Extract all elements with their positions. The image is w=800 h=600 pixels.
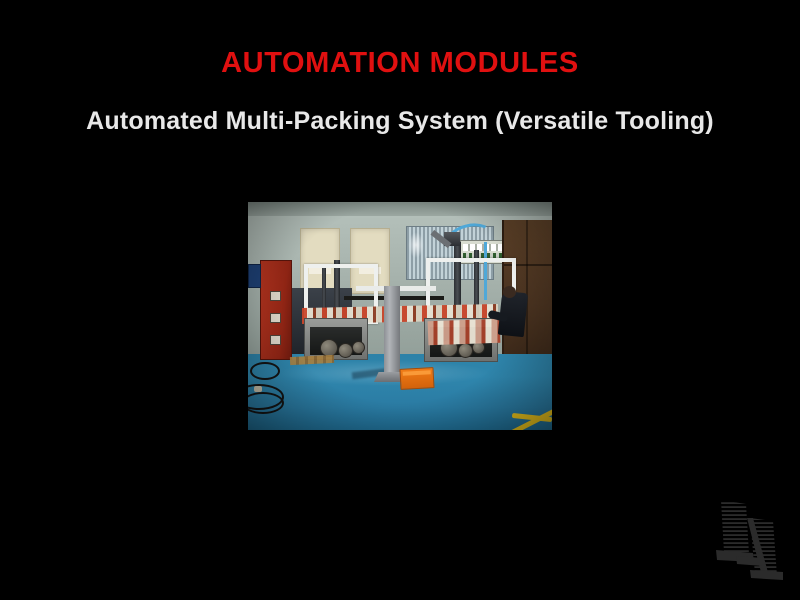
machine-gear-3 xyxy=(352,341,365,354)
floor-cable-connector xyxy=(254,386,262,392)
logo-stroke-left xyxy=(716,500,754,562)
louver-light-glow xyxy=(408,232,424,258)
red-control-cabinet xyxy=(260,260,292,360)
technician-head xyxy=(503,286,516,298)
machine-photo-image xyxy=(248,202,552,430)
foreground-pillar xyxy=(384,286,400,378)
cabinet-knob-2 xyxy=(270,313,281,323)
blue-junction-box xyxy=(248,264,261,288)
company-logo xyxy=(703,492,791,580)
slide-canvas: AUTOMATION MODULES Automated Multi-Packi… xyxy=(0,0,800,600)
printed-carton-blanks-lower xyxy=(428,319,501,345)
machine-cabinet-left xyxy=(304,318,368,360)
slide-subtitle: Automated Multi-Packing System (Versatil… xyxy=(0,108,800,136)
machine-gear-2 xyxy=(338,343,353,358)
page-title: AUTOMATION MODULES xyxy=(0,48,800,80)
machine-cabinet-left-opening xyxy=(310,327,362,355)
machine-photo xyxy=(248,202,552,430)
floor-cable-coil-3 xyxy=(250,362,280,380)
cabinet-knob-3 xyxy=(270,335,281,345)
machine-gear-5 xyxy=(458,343,473,358)
wall-upper-shadow xyxy=(248,202,552,216)
orange-crate xyxy=(399,367,434,390)
cabinet-knob-1 xyxy=(270,291,281,301)
orange-crate-rim xyxy=(403,370,431,375)
logo-stroke-right xyxy=(747,518,783,580)
